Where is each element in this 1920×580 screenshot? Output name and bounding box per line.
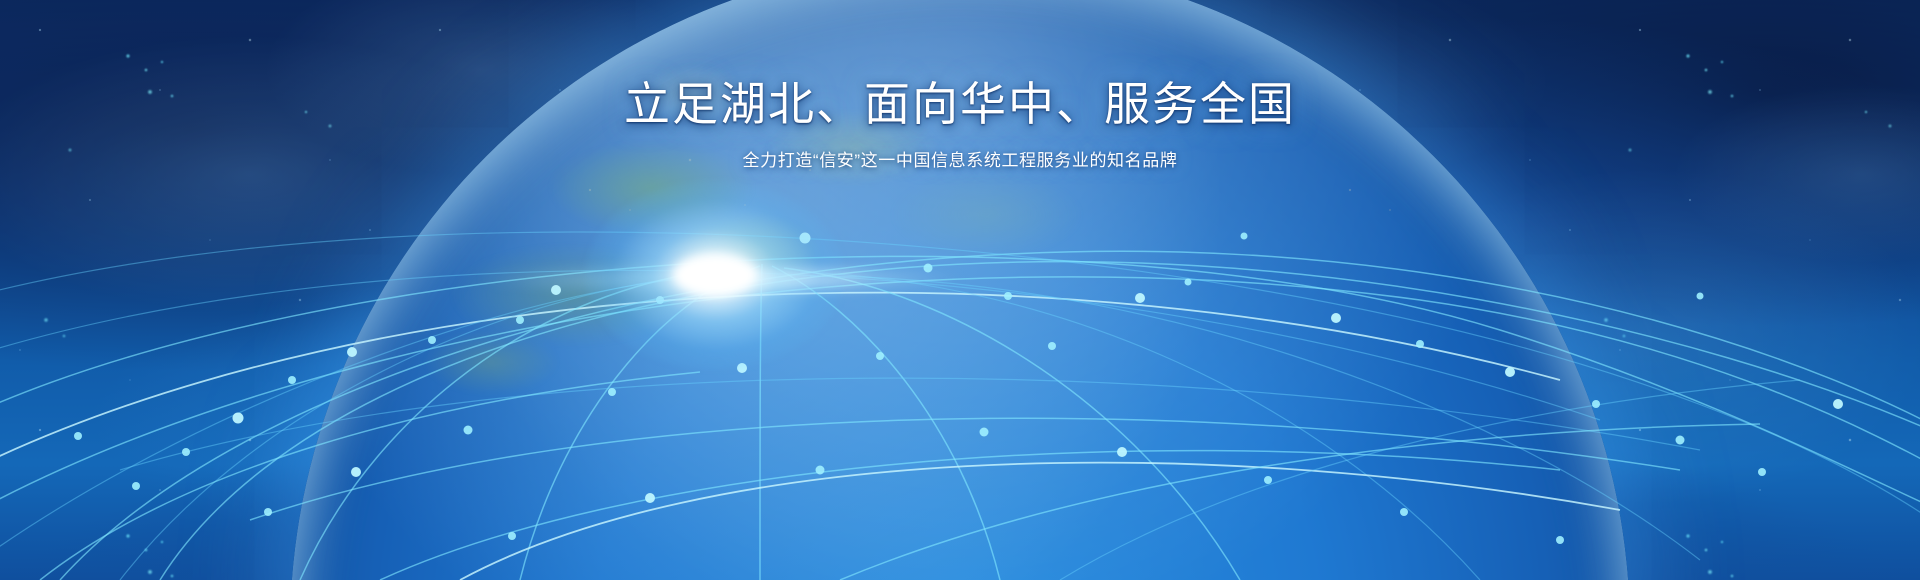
mesh-arcs [0,232,1920,580]
connection-mesh [0,0,1920,580]
hero-banner: 立足湖北、面向华中、服务全国 全力打造“信安”这一中国信息系统工程服务业的知名品… [0,0,1920,580]
